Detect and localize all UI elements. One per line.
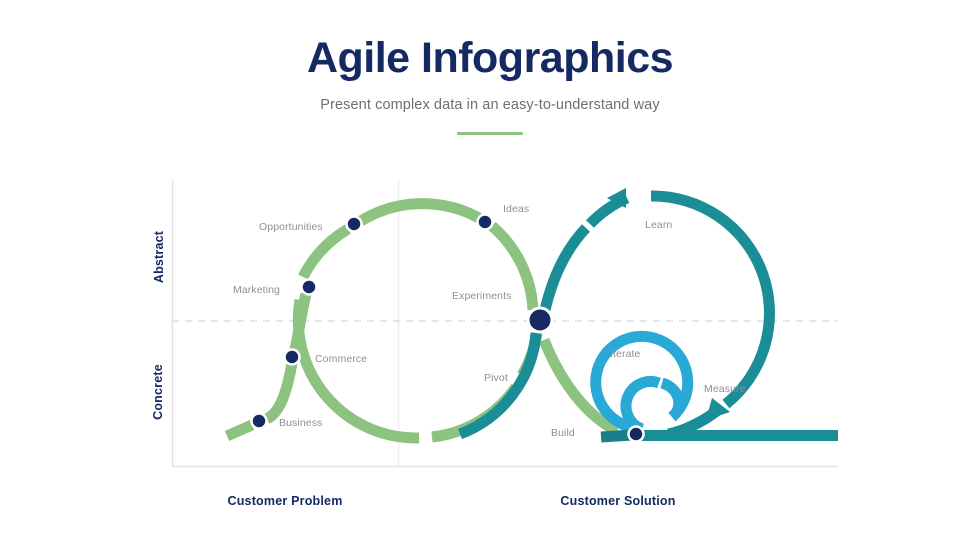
node-label-experiments: Experiments	[452, 290, 511, 302]
node-label-build: Build	[551, 427, 575, 439]
node-dot-experiments[interactable]	[528, 308, 552, 332]
node-dot-build[interactable]	[629, 427, 644, 442]
node-dot-commerce[interactable]	[285, 350, 300, 365]
solution-baseline-bar	[640, 430, 838, 441]
axis-label-customer-solution: Customer Solution	[518, 494, 718, 508]
node-label-ideas: Ideas	[503, 203, 529, 215]
node-label-commerce: Commerce	[315, 353, 367, 365]
node-dot-business[interactable]	[252, 414, 267, 429]
node-dot-opportunities[interactable]	[347, 217, 362, 232]
axis-label-concrete: Concrete	[151, 351, 165, 433]
node-label-pivot: Pivot	[484, 372, 508, 384]
node-label-measure: Measure	[704, 383, 746, 395]
axis-label-customer-problem: Customer Problem	[185, 494, 385, 508]
slide-canvas: Agile Infographics Present complex data …	[0, 0, 980, 551]
node-dot-ideas[interactable]	[478, 215, 493, 230]
node-dot-marketing[interactable]	[302, 280, 317, 295]
node-label-iterate: Iterate	[610, 348, 640, 360]
agile-infographic-figure: Abstract Concrete Customer Problem Custo…	[0, 0, 980, 551]
node-label-marketing: Marketing	[233, 284, 280, 296]
axis-label-abstract: Abstract	[152, 217, 166, 297]
node-label-business: Business	[279, 417, 322, 429]
infographic-svg	[0, 0, 980, 551]
node-label-opportunities: Opportunities	[259, 221, 323, 233]
node-label-learn: Learn	[645, 219, 672, 231]
